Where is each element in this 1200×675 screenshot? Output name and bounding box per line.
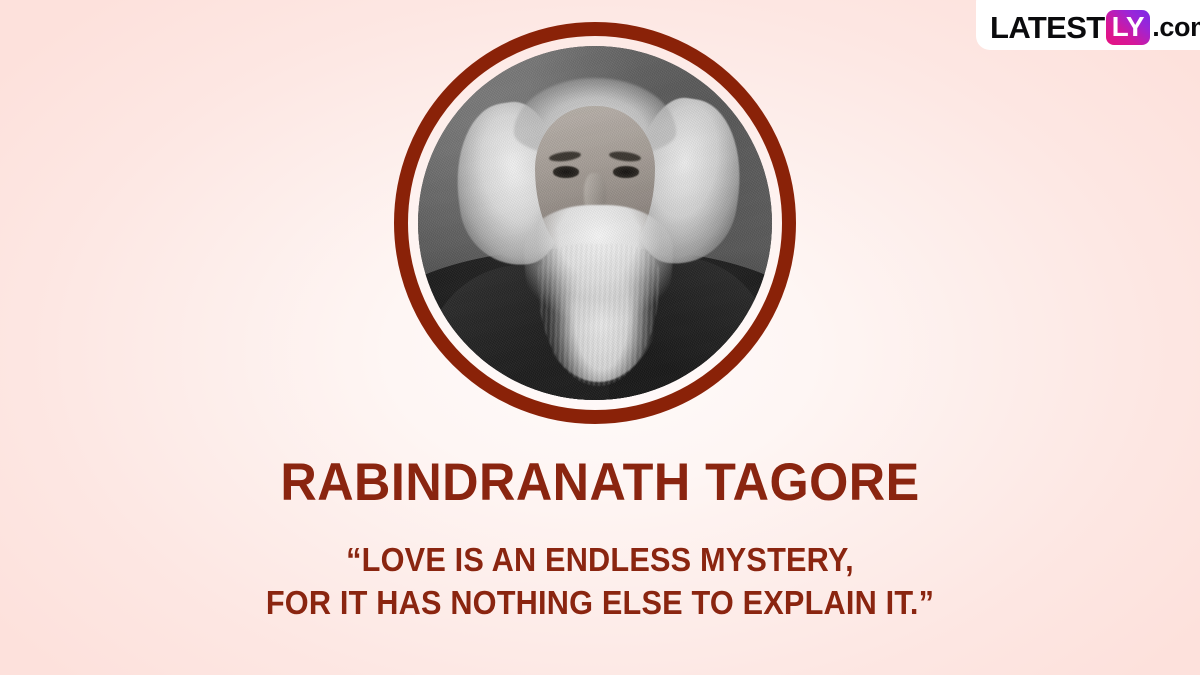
portrait-photo	[418, 46, 772, 400]
quote-line-2: FOR IT HAS NOTHING ELSE TO EXPLAIN IT.”	[42, 581, 1158, 624]
quote-line-1: “LOVE IS AN ENDLESS MYSTERY,	[42, 538, 1158, 581]
logo-wordmark: LATEST	[990, 12, 1105, 43]
person-name: RABINDRANATH TAGORE	[30, 452, 1170, 513]
latestly-logo[interactable]: LATESTLY.com	[990, 8, 1200, 46]
quote-card: LATESTLY.com RABINDRANATH TAGORE “LOVE I…	[0, 0, 1200, 675]
tagore-photograph	[418, 46, 772, 400]
logo-domain-suffix: .com	[1152, 14, 1200, 41]
photo-grain-overlay	[418, 46, 772, 400]
logo-ly-badge: LY	[1106, 10, 1151, 45]
quote-text: “LOVE IS AN ENDLESS MYSTERY, FOR IT HAS …	[42, 538, 1158, 624]
